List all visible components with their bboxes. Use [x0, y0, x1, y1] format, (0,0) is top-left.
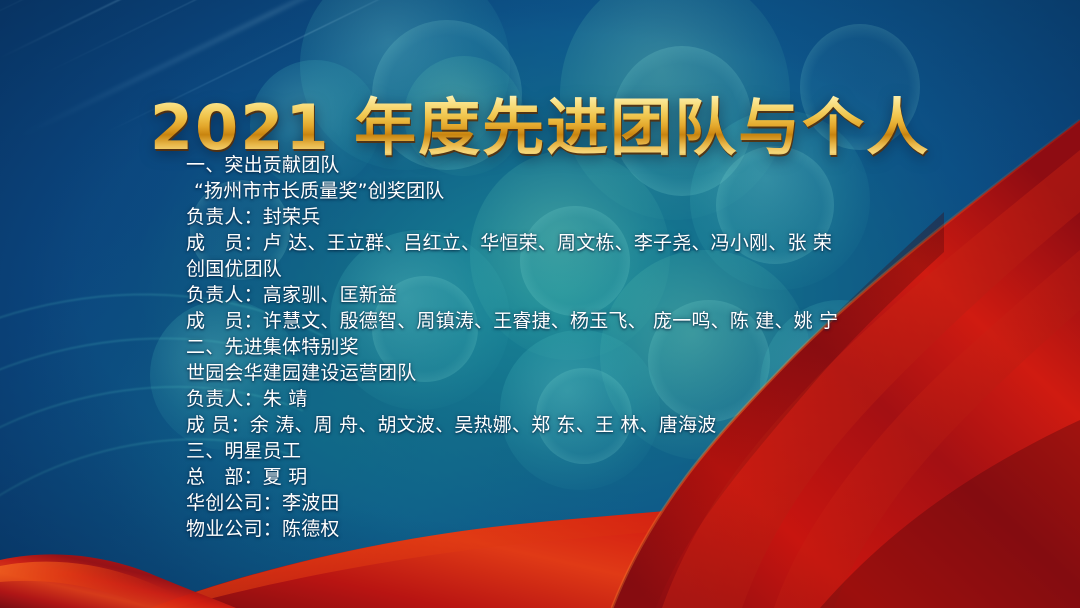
list-item: 物业公司：陈德权 [186, 516, 1046, 542]
award-list-container: 一、突出贡献团队 “扬州市市长质量奖”创奖团队 负责人：封荣兵 成 员：卢 达、… [186, 152, 1046, 542]
list-item: 三、明星员工 [186, 438, 1046, 464]
list-item: “扬州市市长质量奖”创奖团队 [186, 178, 1046, 204]
list-item: 负责人：朱 靖 [186, 386, 1046, 412]
list-item: 创国优团队 [186, 256, 1046, 282]
presentation-slide: 2021 年度先进团队与个人 一、突出贡献团队 “扬州市市长质量奖”创奖团队 负… [0, 0, 1080, 608]
list-item: 负责人：封荣兵 [186, 204, 1046, 230]
list-item: 总 部：夏 玥 [186, 464, 1046, 490]
list-item: 负责人：高家驯、匡新益 [186, 282, 1046, 308]
list-item: 世园会华建园建设运营团队 [186, 360, 1046, 386]
list-item: 成 员：余 涛、周 舟、胡文波、吴热娜、郑 东、王 林、唐海波 [186, 412, 1046, 438]
list-item: 成 员：卢 达、王立群、吕红立、华恒荣、周文栋、李子尧、冯小刚、张 荣 [186, 230, 1046, 256]
list-item: 华创公司：李波田 [186, 490, 1046, 516]
list-item: 一、突出贡献团队 [186, 152, 1046, 178]
list-item: 二、先进集体特别奖 [186, 334, 1046, 360]
list-item: 成 员：许慧文、殷德智、周镇涛、王睿捷、杨玉飞、 庞一鸣、陈 建、姚 宁 [186, 308, 1046, 334]
